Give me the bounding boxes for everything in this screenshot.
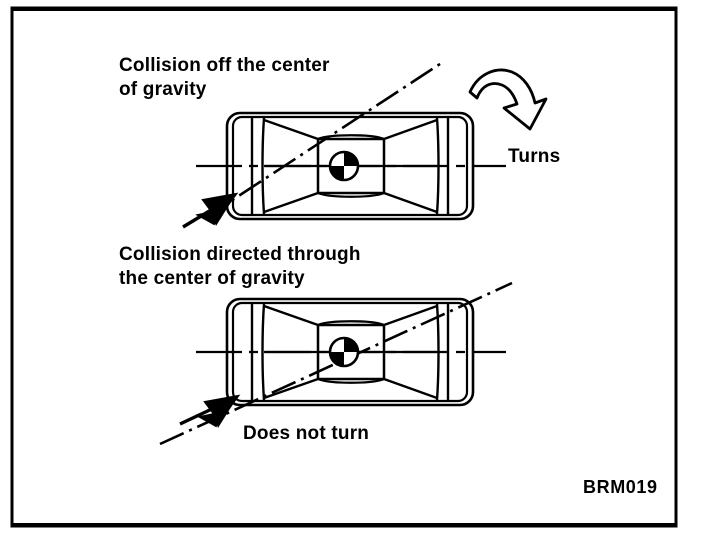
label-collision-off-center: Collision off the center of gravity <box>119 54 330 103</box>
figure-id-code: BRM019 <box>583 476 658 499</box>
label-turns: Turns <box>508 145 560 169</box>
bottom-case-group <box>160 283 512 444</box>
figure-container: Collision off the center of gravity Coll… <box>0 0 704 538</box>
center-of-gravity-icon-bottom <box>330 338 358 366</box>
center-of-gravity-icon <box>330 152 358 180</box>
rotation-arrow-icon <box>470 70 546 129</box>
label-does-not-turn: Does not turn <box>243 422 369 446</box>
label-collision-through-center: Collision directed through the center of… <box>119 243 361 292</box>
impact-arrow-icon-bottom <box>180 396 238 428</box>
